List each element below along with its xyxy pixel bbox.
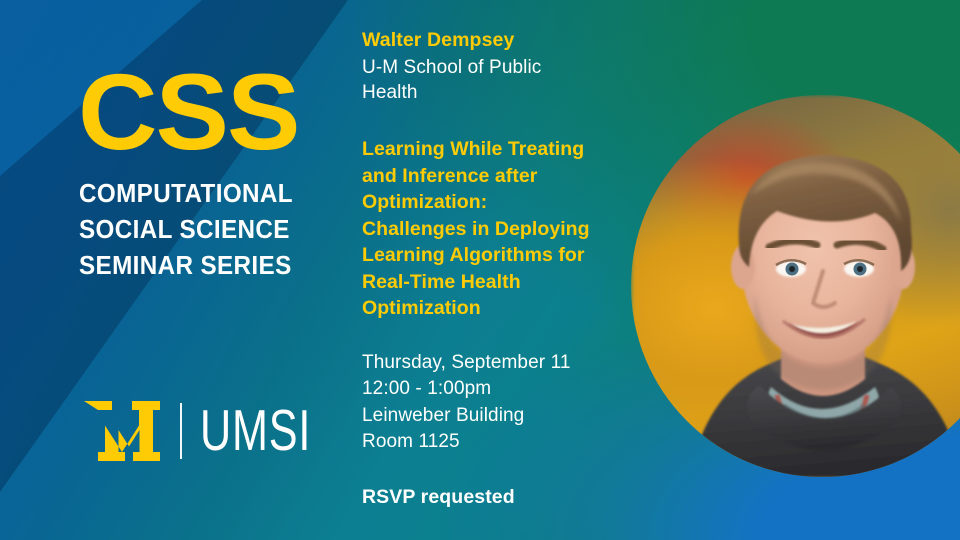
- speaker-name: Walter Dempsey: [362, 28, 652, 54]
- title-line-1: Learning While Treating: [362, 136, 637, 163]
- portrait-figure: [631, 95, 960, 477]
- rsvp-note: RSVP requested: [362, 486, 515, 509]
- event-date: Thursday, September 11: [362, 350, 652, 376]
- event-time: 12:00 - 1:00pm: [362, 376, 652, 402]
- subtitle-line-1: COMPUTATIONAL: [79, 176, 293, 212]
- speaker-block: Walter Dempsey U-M School of Public Heal…: [362, 28, 652, 105]
- block-m-icon: [84, 401, 160, 461]
- title-line-3: Optimization:: [362, 189, 637, 216]
- brand-panel: CSS COMPUTATIONAL SOCIAL SCIENCE SEMINAR…: [0, 0, 340, 540]
- speaker-portrait: [631, 95, 960, 477]
- seminar-series-subtitle: COMPUTATIONAL SOCIAL SCIENCE SEMINAR SER…: [79, 176, 293, 285]
- affiliation-line-1: U-M School of Public: [362, 55, 652, 80]
- title-line-4: Challenges in Deploying: [362, 216, 637, 243]
- event-content: Walter Dempsey U-M School of Public Heal…: [362, 0, 662, 540]
- event-details: Thursday, September 11 12:00 - 1:00pm Le…: [362, 350, 652, 456]
- umsi-wordmark: UMSI: [200, 402, 311, 459]
- css-acronym-logo: CSS: [78, 62, 298, 161]
- umsi-divider: [180, 403, 182, 459]
- title-line-6: Real-Time Health: [362, 269, 637, 296]
- title-line-2: and Inference after: [362, 163, 637, 190]
- event-room: Room 1125: [362, 429, 652, 455]
- event-building: Leinweber Building: [362, 403, 652, 429]
- affiliation-line-2: Health: [362, 80, 652, 105]
- speaker-affiliation: U-M School of Public Health: [362, 55, 652, 106]
- seminar-flyer: CSS COMPUTATIONAL SOCIAL SCIENCE SEMINAR…: [0, 0, 960, 540]
- title-line-7: Optimization: [362, 295, 637, 322]
- subtitle-line-3: SEMINAR SERIES: [79, 248, 293, 284]
- umsi-logo-lockup: UMSI: [84, 398, 339, 464]
- title-line-5: Learning Algorithms for: [362, 242, 637, 269]
- talk-title: Learning While Treating and Inference af…: [362, 136, 637, 322]
- subtitle-line-2: SOCIAL SCIENCE: [79, 212, 293, 248]
